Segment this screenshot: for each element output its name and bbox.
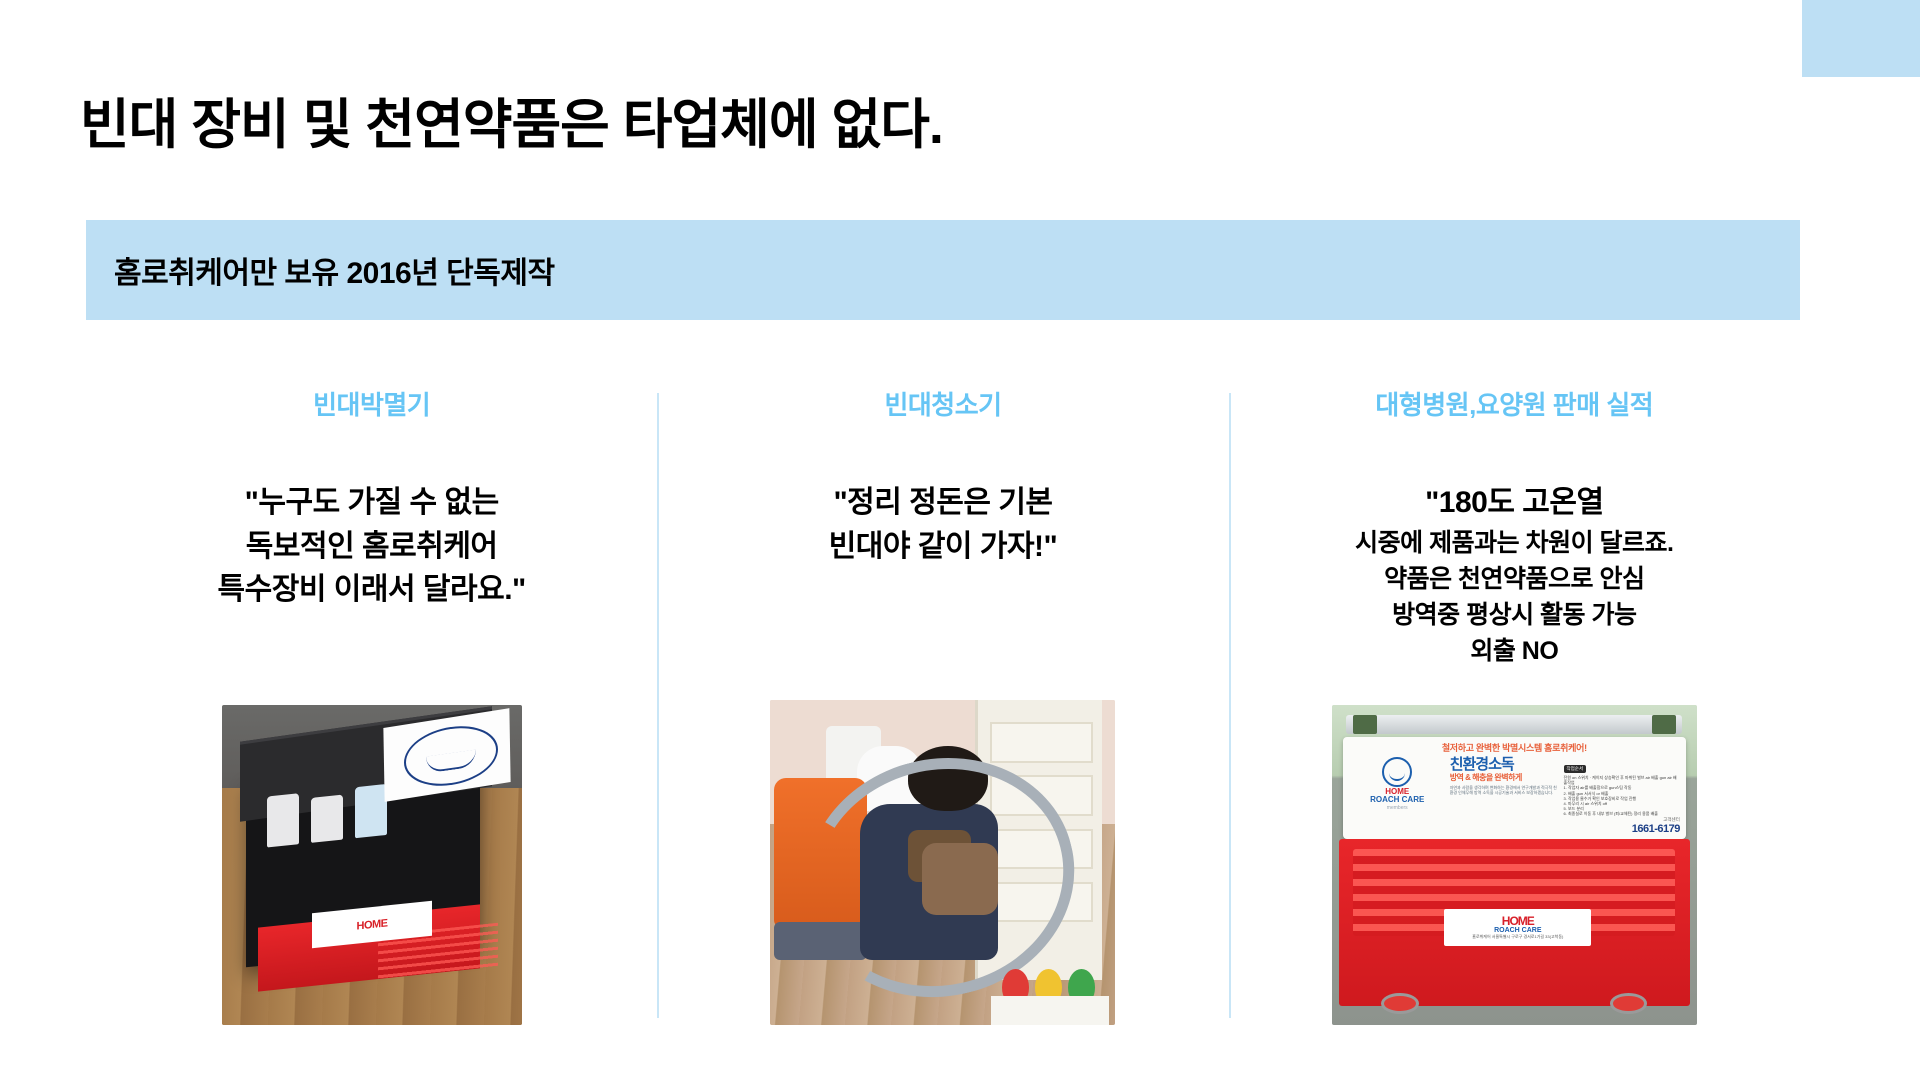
unit-logo-roach-care: ROACH CARE [1494, 927, 1541, 934]
photo-1-brand-label: HOME [356, 917, 387, 932]
sign-subtitle: 방역 & 해충을 완벽하게 [1450, 772, 1560, 783]
column-1-line-3: 특수장비 이래서 달라요." [218, 568, 526, 612]
unit-info-sign: 철저하고 완벽한 박멸시스템 홈로취케어! HOME ROACH CARE me… [1343, 737, 1686, 839]
column-2-line-1: "정리 정돈은 기본 [829, 481, 1058, 525]
subtitle-banner-text: 홈로취케어만 보유 2016년 단독제작 [86, 248, 555, 292]
column-body-3: "180도 고온열 시중에 제품과는 차원이 달르죠. 약품은 천연약품으로 안… [1355, 481, 1673, 670]
photo-bedbug-vacuum [770, 700, 1115, 1025]
column-1-line-2: 독보적인 홈로취케어 [218, 525, 526, 569]
unit-caster-right [1610, 993, 1648, 1014]
photo-bedbug-exterminator: HOME [222, 705, 522, 1025]
column-2-line-2: 빈대야 같이 가자!" [829, 525, 1058, 569]
column-header-2: 빈대청소기 [884, 385, 1001, 425]
column-1-line-1: "누구도 가질 수 없는 [218, 481, 526, 525]
feature-columns: 빈대박멸기 "누구도 가질 수 없는 독보적인 홈로취케어 특수장비 이래서 달… [86, 385, 1800, 1025]
column-bedbug-exterminator: 빈대박멸기 "누구도 가질 수 없는 독보적인 홈로취케어 특수장비 이래서 달… [86, 385, 657, 1025]
column-3-line-1: "180도 고온열 [1355, 481, 1673, 525]
column-3-line-5: 외출 NO [1355, 633, 1673, 669]
unit-logo-address: 홈로취케어 서울특별시 구로구 경서로1가길 33(고척동) [1472, 934, 1563, 940]
sign-tel-number: 1661-6179 [1564, 823, 1680, 835]
sign-steps-block: 작업순서 전원 on 스위치 · 케이지 상승확인 후 마취된 벌브 air 배… [1564, 757, 1680, 835]
roach-care-smiley-icon [1382, 757, 1412, 787]
subtitle-banner: 홈로취케어만 보유 2016년 단독제작 [86, 220, 1800, 320]
column-hospital-sales: 대형병원,요양원 판매 실적 "180도 고온열 시중에 제품과는 차원이 달르… [1229, 385, 1800, 1025]
column-3-line-3: 약품은 천연약품으로 안심 [1355, 561, 1673, 597]
sign-eco-block: 친환경소독 방역 & 해충을 완벽하게 자연과 사람을 생각하며 변화하는 환경… [1450, 757, 1560, 835]
unit-logo: HOME ROACH CARE 홈로취케어 서울특별시 구로구 경서로1가길 3… [1444, 909, 1591, 946]
unit-caster-left [1381, 993, 1419, 1014]
sign-steps-tag: 작업순서 [1564, 765, 1587, 773]
sign-brand-roach-care: ROACH CARE [1349, 796, 1446, 805]
column-3-line-2: 시중에 제품과는 차원이 달르죠. [1355, 525, 1673, 561]
column-body-1: "누구도 가질 수 없는 독보적인 홈로취케어 특수장비 이래서 달라요." [218, 481, 526, 612]
column-body-2: "정리 정돈은 기본 빈대야 같이 가자!" [829, 481, 1058, 568]
column-3-line-4: 방역중 평상시 활동 가능 [1355, 597, 1673, 633]
corner-accent-tab [1802, 0, 1920, 77]
sign-fine-print: 자연과 사람을 생각하며 변화하는 환경에서 연구개발과 적극적 친환경 인체무… [1450, 785, 1560, 795]
column-bedbug-vacuum: 빈대청소기 "정리 정돈은 기본 빈대야 같이 가자!" [657, 385, 1228, 1025]
sign-headline: 철저하고 완벽한 박멸시스템 홈로취케어! [1349, 741, 1680, 754]
sign-steps-intro: 전원 on 스위치 · 케이지 상승확인 후 마취된 벌브 air 배출 gun… [1564, 775, 1680, 785]
unit-red-body: HOME ROACH CARE 홈로취케어 서울특별시 구로구 경서로1가길 3… [1339, 839, 1689, 1005]
photo-hospital-unit: 철저하고 완벽한 박멸시스템 홈로취케어! HOME ROACH CARE me… [1332, 705, 1697, 1025]
page-title: 빈대 장비 및 천연약품은 타업체에 없다. [80, 94, 943, 156]
sign-brand-members: members [1349, 805, 1446, 811]
sign-title: 친환경소독 [1450, 757, 1560, 772]
sign-brand-block: HOME ROACH CARE members [1349, 757, 1446, 835]
unit-logo-home: HOME [1502, 915, 1534, 927]
column-header-1: 빈대박멸기 [313, 385, 430, 425]
column-header-3: 대형병원,요양원 판매 실적 [1375, 385, 1653, 425]
